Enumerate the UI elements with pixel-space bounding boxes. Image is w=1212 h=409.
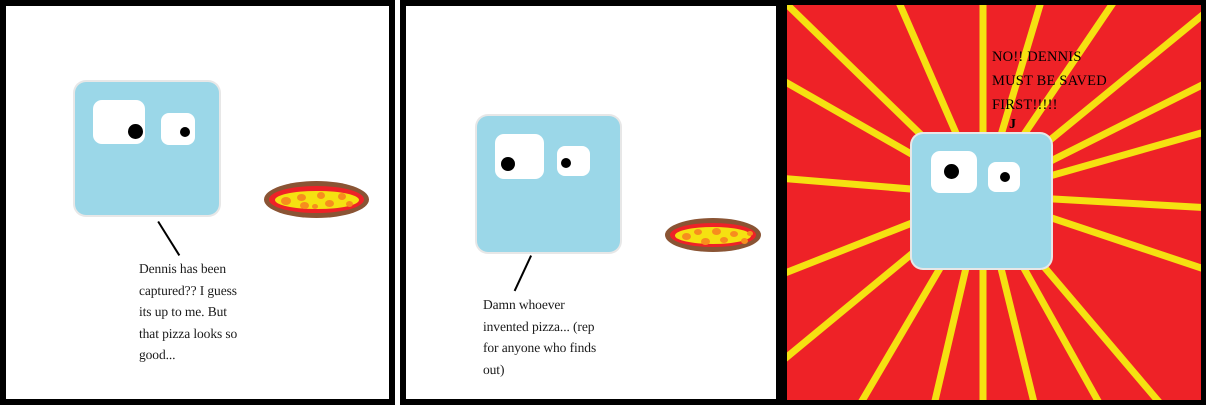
caption-pointer-line xyxy=(157,221,180,256)
panel-1-caption: Dennis has been captured?? I guess its u… xyxy=(139,258,309,366)
left-eye-white xyxy=(495,134,544,179)
character-dennis-friend-panel1 xyxy=(75,82,219,215)
left-eye-pupil xyxy=(944,164,959,179)
character-dennis-friend-panel2 xyxy=(477,116,620,252)
comic-panel-1: Dennis has been captured?? I guess its u… xyxy=(0,0,395,405)
pizza-pepperoni xyxy=(317,192,325,199)
comic-panel-3: NO!! DENNIS MUST BE SAVED FIRST!!!!! J xyxy=(782,0,1206,405)
pizza-pepperoni xyxy=(720,237,728,243)
pizza xyxy=(665,218,761,252)
panel-2-caption: Damn whoever invented pizza... (rep for … xyxy=(483,294,663,380)
pizza-pepperoni xyxy=(730,231,738,237)
right-eye-pupil xyxy=(1000,172,1010,182)
left-eye-pupil xyxy=(501,157,515,171)
caption-pointer-line xyxy=(514,255,532,291)
pizza-pepperoni xyxy=(338,193,346,200)
character-dennis-friend-panel3 xyxy=(912,134,1051,268)
comic-strip: Dennis has been captured?? I guess its u… xyxy=(0,0,1212,409)
pizza-pepperoni xyxy=(747,231,753,236)
right-eye-pupil xyxy=(561,158,571,168)
pizza-pepperoni xyxy=(297,194,306,201)
smiley-glyph: J xyxy=(1009,117,1016,133)
pizza-pepperoni xyxy=(741,238,748,244)
left-eye-pupil xyxy=(128,124,143,139)
panel-3-caption: NO!! DENNIS MUST BE SAVED FIRST!!!!! xyxy=(992,45,1152,117)
right-eye-pupil xyxy=(180,127,190,137)
right-eye-white xyxy=(161,113,195,145)
pizza xyxy=(264,181,369,218)
comic-panel-2: Damn whoever invented pizza... (rep for … xyxy=(400,0,782,405)
pizza-pepperoni xyxy=(281,197,291,205)
